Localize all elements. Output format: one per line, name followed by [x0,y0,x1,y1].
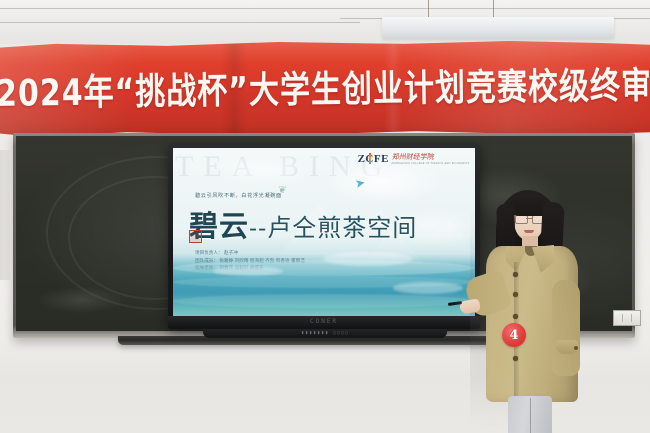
slide-logo-cn-text: 郑州财经学院 [392,153,435,161]
slide-seal-stamp [189,230,202,243]
slide-school-logo: ZCFE 郑州财经学院 ZHENGZHOU COLLEGE OF FINANCE… [358,152,470,165]
competition-banner: 2024年“挑战杯”大学生创业计划竞赛校级终审决赛 [0,40,650,138]
ceiling-light-panel [382,17,614,39]
ceiling-rod [428,0,429,18]
slide-logo-cn-name: 郑州财经学院 ZHENGZHOU COLLEGE OF FINANCE AND … [391,152,471,165]
wall-side-panel [0,150,10,280]
presenter-pants-seam [530,398,531,433]
banner-title-text: 2024年“挑战杯”大学生创业计划竞赛校级终审决赛 [0,55,650,117]
slide-poem-line: 碧云引风吹不断，白花浮光凝碗面 [195,192,282,199]
slide-logo-cn-sub: ZHENGZHOU COLLEGE OF FINANCE AND ECONOMI… [391,162,469,165]
presentation-slide: TEA BING ZCFE 郑州财经学院 ZHENGZHOU COLLEGE O… [173,148,475,316]
credit-line-leader: 项目负责人： 赵子冲 [195,250,305,258]
slide-title: 碧云--卢仝煎茶空间 [189,203,417,245]
slide-logo-mark: ZCFE [358,153,389,165]
glasses-icon [515,215,543,222]
ceiling-rod [493,0,494,18]
contestant-number: 4 [509,329,518,342]
coat-sleeve-right [552,280,580,376]
display-stand-label: ▮▮▮▮▮▮▮ ▯▯▯▯ [203,330,447,336]
presentation-display[interactable]: TEA BING ZCFE 郑州财经学院 ZHENGZHOU COLLEGE O… [168,143,480,329]
display-brand-label: CONER [168,318,480,325]
presentation-scene-photo: 2024年“挑战杯”大学生创业计划竞赛校级终审决赛 TEA BING [0,0,650,433]
slide-logo-bar [369,153,371,164]
presenter-mouth [524,230,534,233]
board-side-sign [613,310,641,326]
contestant-number-badge: 4 [502,323,526,347]
coat-pocket-button [574,346,578,350]
presenter: 4 [470,188,602,433]
display-screen: TEA BING ZCFE 郑州财经学院 ZHENGZHOU COLLEGE O… [173,148,475,316]
ceiling [0,0,650,46]
slide-title-suffix: --卢仝煎茶空间 [249,214,417,242]
